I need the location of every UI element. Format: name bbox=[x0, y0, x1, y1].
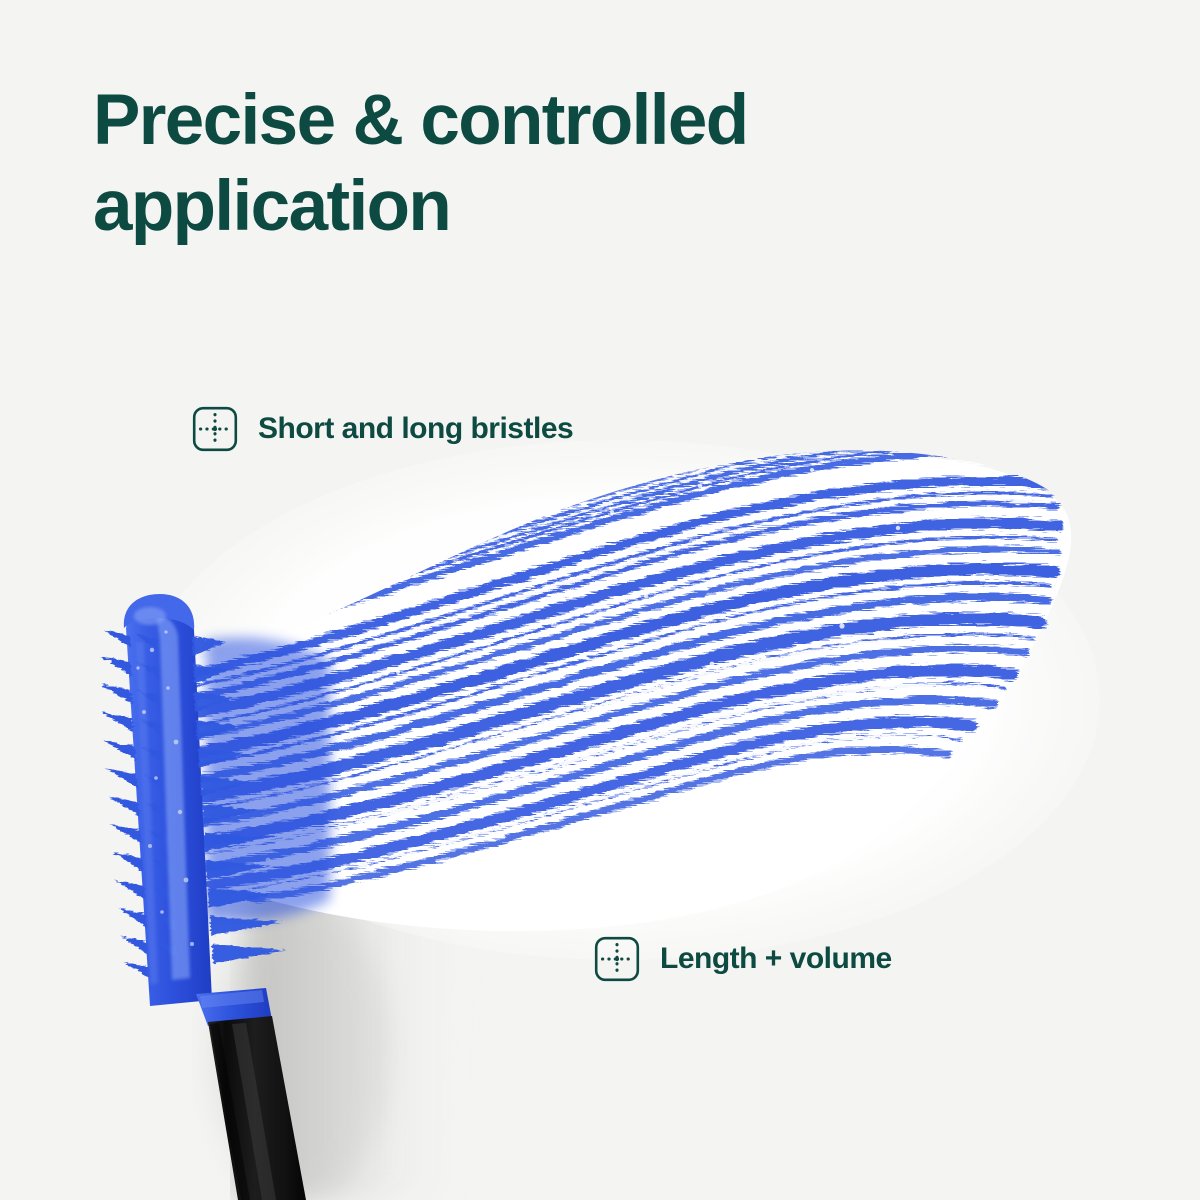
crosshair-dotted-square-icon bbox=[594, 936, 640, 982]
product-photo bbox=[0, 0, 1200, 1200]
callout-short-and-long-bristles: Short and long bristles bbox=[192, 406, 573, 452]
callout-length-plus-volume: Length + volume bbox=[594, 936, 892, 982]
crosshair-dotted-square-icon bbox=[192, 406, 238, 452]
callout-label: Short and long bristles bbox=[258, 412, 573, 446]
callout-label: Length + volume bbox=[660, 942, 892, 976]
marketing-banner: Precise & controlled application Short a… bbox=[0, 0, 1200, 1200]
